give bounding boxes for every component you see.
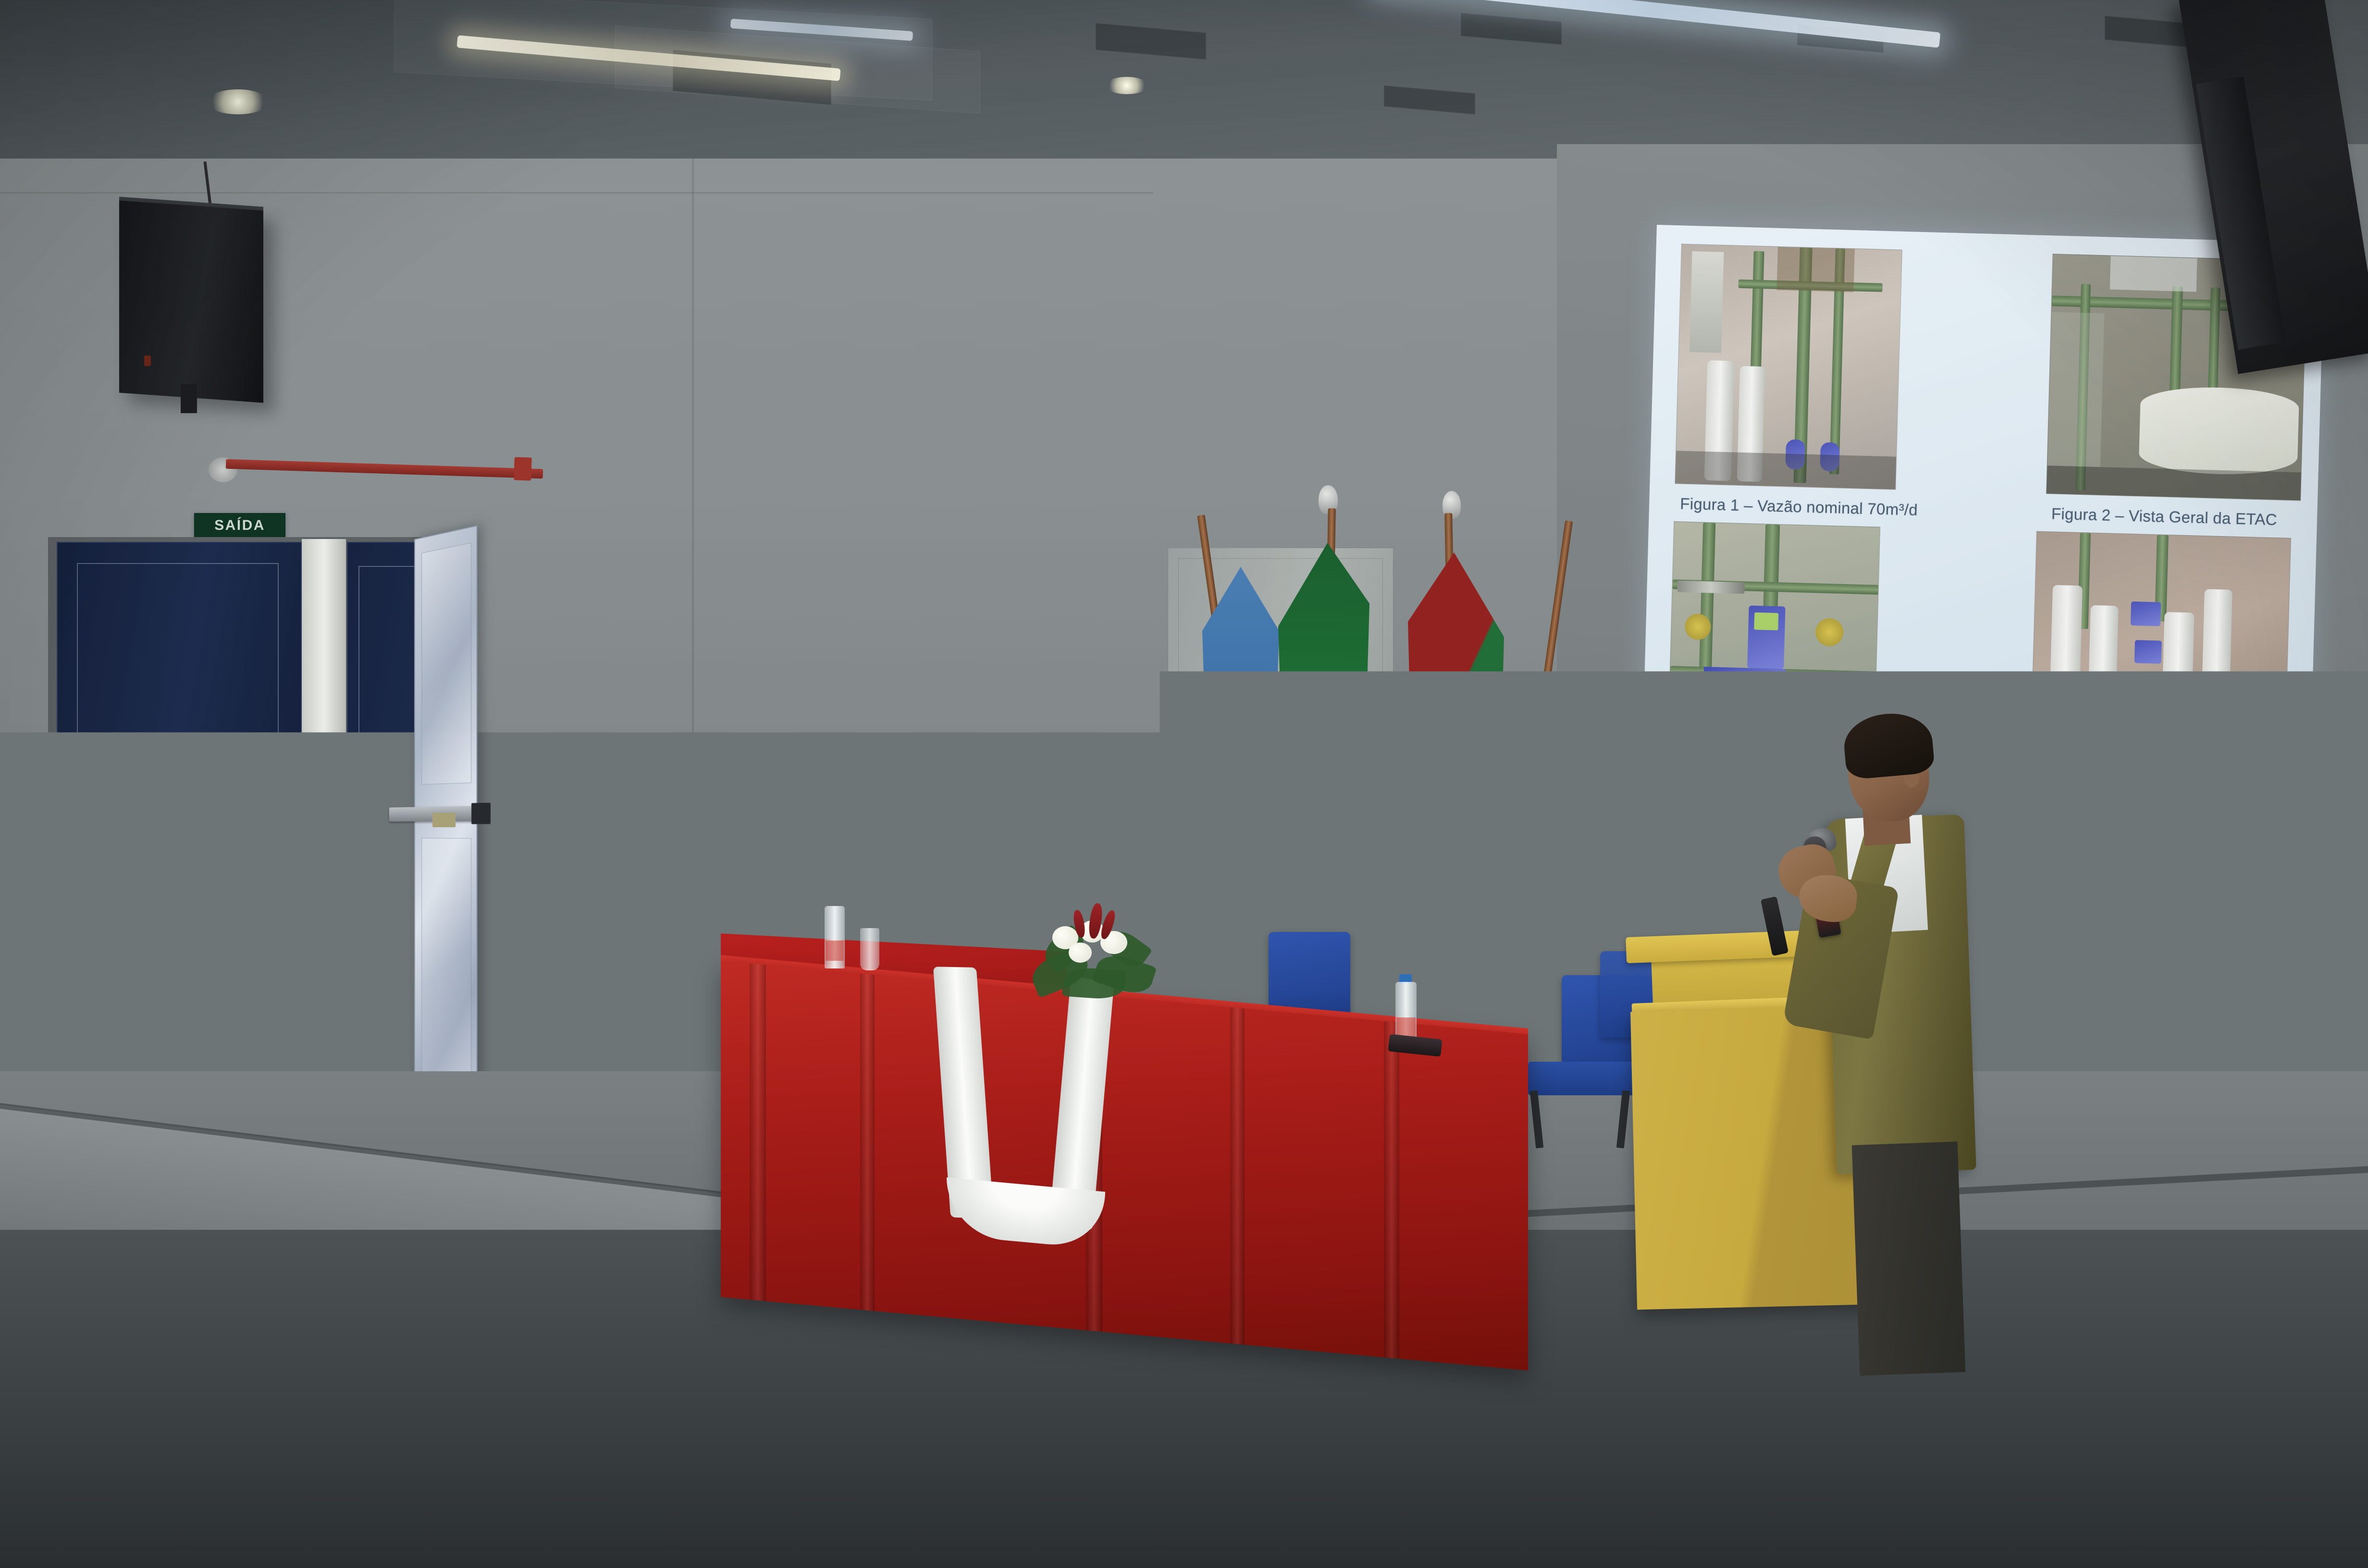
wall-seam — [692, 159, 694, 975]
exit-sign-label: SAÍDA — [214, 517, 265, 534]
municipal-flag — [1202, 567, 1279, 922]
ceiling-light — [1105, 77, 1148, 94]
ceiling-light — [207, 89, 269, 114]
auditorium-photo: Figura 1 – Vazão nominal 70m³/d Figura 2… — [0, 0, 2368, 1568]
loudspeaker-bracket — [181, 384, 197, 413]
figure-2-caption: Figura 2 – Vista Geral da ETAC — [2051, 504, 2301, 529]
flower-arrangement — [1028, 901, 1158, 997]
slide-figure-3: Figura 3 – Automação (Turbidímetro on-li… — [1663, 521, 1997, 799]
wall-outlet — [925, 784, 942, 813]
projection-screen: Figura 1 – Vazão nominal 70m³/d Figura 2… — [1642, 225, 2325, 795]
panic-bar-end — [471, 803, 491, 824]
loudspeaker-led-icon — [144, 355, 151, 366]
audience-head — [1206, 1239, 1293, 1340]
audience-body — [173, 1513, 404, 1568]
exit-door-left[interactable] — [57, 542, 302, 1118]
door-panel — [77, 812, 279, 970]
audience-head — [1566, 1292, 1651, 1391]
water-bottle[interactable] — [825, 906, 845, 968]
figure-4-image — [2030, 531, 2291, 778]
audience — [0, 1033, 2368, 1568]
audience-head — [413, 1432, 533, 1568]
red-pipe-cap — [514, 457, 531, 480]
panic-bar-end — [267, 775, 287, 796]
figure-1-caption: Figura 1 – Vazão nominal 70m³/d — [1680, 495, 1998, 522]
drinking-glass[interactable] — [860, 928, 879, 970]
wall-seam — [0, 192, 1153, 194]
door-panel-diamond — [421, 542, 471, 784]
wall-loudspeaker — [119, 201, 263, 403]
panic-bar[interactable] — [64, 778, 271, 792]
audience-head — [639, 1163, 726, 1266]
audience-head — [543, 1163, 634, 1273]
door-latch[interactable] — [432, 813, 456, 827]
flower-leaf — [1062, 967, 1126, 1001]
audience-head — [1360, 1427, 1475, 1566]
presentation-slide: Figura 1 – Vazão nominal 70m³/d Figura 2… — [1642, 225, 2325, 795]
audience-body — [0, 1460, 207, 1568]
audience-head — [975, 1432, 1093, 1568]
figure-1-image — [1675, 244, 1902, 490]
audience-scarf — [288, 1311, 341, 1388]
exit-sign: SAÍDA — [194, 513, 285, 538]
door-panel — [77, 563, 279, 755]
slide-figure-4: Figura 4 – Dupla Filtração — [2019, 531, 2300, 807]
municipal-flag-emblem-detail — [1220, 738, 1261, 772]
slide-figure-1: Figura 1 – Vazão nominal 70m³/d — [1670, 244, 2005, 521]
door-panel — [358, 566, 421, 777]
figure-3-image — [1667, 521, 1880, 767]
bottle-label — [826, 941, 844, 961]
audience-body — [548, 1518, 774, 1568]
flower-bloom — [1069, 943, 1092, 963]
